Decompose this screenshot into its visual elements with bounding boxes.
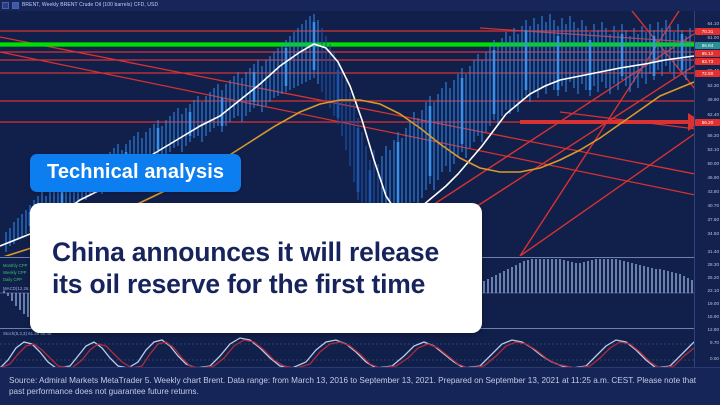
- price-tick: 22.10: [708, 288, 720, 293]
- screenshot-root: BRENT, Weekly BRENT Crude Oil (100 barre…: [0, 0, 720, 405]
- price-tick: 12.80: [708, 327, 720, 332]
- price-tick: 19.00: [708, 301, 720, 306]
- price-tick: 50.00: [708, 161, 720, 166]
- price-tick: 49.90: [708, 97, 720, 102]
- price-badge: 70.31: [695, 28, 720, 35]
- headline-card: China announces it will release its oil …: [30, 203, 482, 333]
- footer-divider: [0, 367, 720, 368]
- price-tick: 62.40: [708, 112, 720, 117]
- price-badge: 66.84: [695, 42, 720, 49]
- headline-text: China announces it will release its oil …: [52, 236, 439, 300]
- price-tick: 40.70: [708, 203, 720, 208]
- price-tick: 53.10: [708, 147, 720, 152]
- chart-title-bar[interactable]: BRENT, Weekly BRENT Crude Oil (100 barre…: [0, 0, 720, 11]
- price-tick: 64.10: [708, 21, 720, 26]
- price-tick: 15.90: [708, 314, 720, 319]
- headline-line-1: China announces it will release: [52, 237, 439, 267]
- price-tick: 34.50: [708, 231, 720, 236]
- pivot-label-weekly: Weekly CPP: [3, 270, 26, 275]
- price-tick: 25.20: [708, 275, 720, 280]
- technical-analysis-badge[interactable]: Technical analysis: [30, 154, 241, 192]
- price-tick: 43.80: [708, 189, 720, 194]
- chart-title-text: BRENT, Weekly BRENT Crude Oil (100 barre…: [22, 2, 158, 9]
- chart-icon: [2, 2, 9, 9]
- price-axis[interactable]: 67.20 64.10 61.00 55.40 52.30 49.90 62.4…: [694, 0, 720, 367]
- price-tick: 46.90: [708, 175, 720, 180]
- price-badge: 65.12: [695, 50, 720, 57]
- price-tick: 9.70: [710, 340, 719, 345]
- price-tick: 31.40: [708, 249, 720, 254]
- price-badge: 56.20: [695, 119, 720, 126]
- price-tick: 0.00: [710, 356, 719, 361]
- price-tick: 61.00: [708, 35, 720, 40]
- price-tick: 37.60: [708, 217, 720, 222]
- headline-line-2: its oil reserve for the first time: [52, 269, 425, 299]
- pivot-label-monthly: Monthly CPP: [3, 263, 27, 268]
- terminal-icon: [12, 2, 19, 9]
- price-tick: 52.30: [708, 83, 720, 88]
- price-tick: 56.20: [708, 133, 720, 138]
- price-badge: 63.73: [695, 58, 720, 65]
- footer-bar: Source: Admiral Markets MetaTrader 5. We…: [0, 367, 720, 405]
- pivot-label-daily: Daily CPP: [3, 277, 22, 282]
- footer-source-text: Source: Admiral Markets MetaTrader 5. We…: [9, 375, 711, 398]
- price-tick: 28.30: [708, 262, 720, 267]
- price-badge: 72.50: [695, 70, 720, 77]
